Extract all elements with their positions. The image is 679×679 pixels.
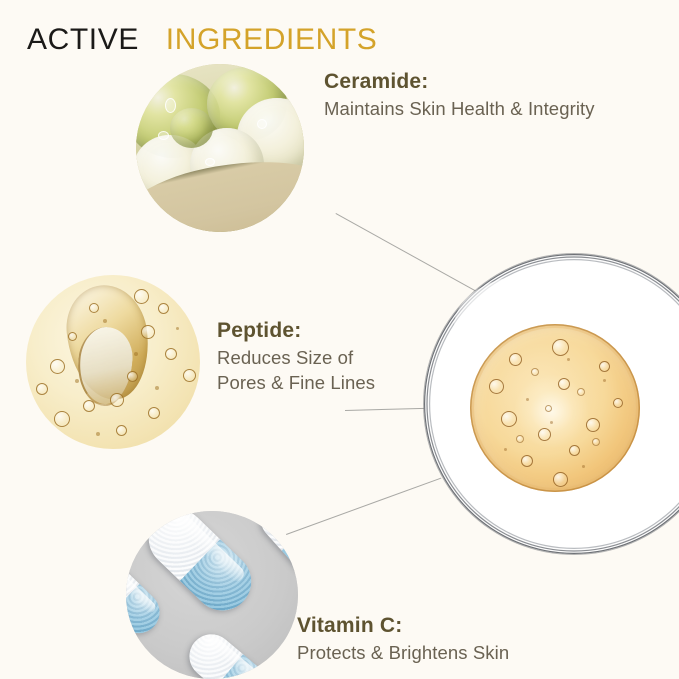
label-vitamin-c: Vitamin C: Protects & Brightens Skin (297, 614, 509, 666)
label-peptide: Peptide: Reduces Size of Pores & Fine Li… (217, 319, 375, 396)
label-ceramide: Ceramide: Maintains Skin Health & Integr… (324, 70, 595, 122)
vitamin-c-description: Protects & Brightens Skin (297, 641, 509, 666)
title-word-ingredients: INGREDIENTS (166, 23, 378, 56)
title-word-active: ACTIVE (27, 23, 139, 56)
peptide-description-line-1: Reduces Size of (217, 346, 375, 371)
connector-line-vitamin-c (286, 478, 441, 535)
peptide-description-line-2: Pores & Fine Lines (217, 371, 375, 396)
golden-serum-droplet (470, 324, 640, 492)
droplet-edge-ring (470, 324, 640, 492)
vitamin-c-blue-capsules-photo (126, 511, 298, 679)
peptide-name: Peptide: (217, 319, 375, 343)
page-title: ACTIVE INGREDIENTS (27, 23, 377, 57)
vitamin-c-name: Vitamin C: (297, 614, 509, 638)
ceramide-olive-spheres-photo (136, 64, 304, 232)
active-ingredients-infographic: ACTIVE INGREDIENTS (0, 0, 679, 679)
ceramide-name: Ceramide: (324, 70, 595, 94)
peptide-amber-gel-photo (26, 275, 200, 449)
connector-line-peptide (345, 408, 430, 411)
ceramide-description: Maintains Skin Health & Integrity (324, 97, 595, 122)
